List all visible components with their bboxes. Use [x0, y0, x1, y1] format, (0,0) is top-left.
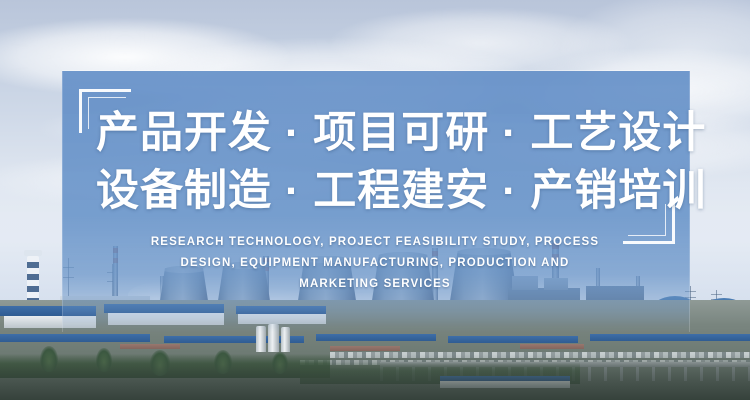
subtitle-line-2: DESIGN, EQUIPMENT MANUFACTURING, PRODUCT… — [110, 253, 640, 274]
subtitle-line-3: MARKETING SERVICES — [110, 274, 640, 295]
red-roof-building — [330, 346, 400, 351]
blue-roof-building — [316, 334, 436, 341]
foreground-shadow — [0, 354, 750, 400]
red-roof-building — [120, 344, 180, 349]
subtitle-block: RESEARCH TECHNOLOGY, PROJECT FEASIBILITY… — [110, 232, 640, 295]
subtitle-line-1: RESEARCH TECHNOLOGY, PROJECT FEASIBILITY… — [110, 232, 640, 253]
headline-block: 产品开发 · 项目可研 · 工艺设计 设备制造 · 工程建安 · 产销培训 — [96, 104, 666, 220]
blue-roof-building — [448, 336, 578, 343]
headline-line-2: 设备制造 · 工程建安 · 产销培训 — [96, 162, 666, 220]
headline-line-1: 产品开发 · 项目可研 · 工艺设计 — [96, 104, 666, 162]
blue-roof-building — [0, 334, 150, 342]
red-roof-building — [520, 344, 584, 349]
blue-roof-building — [590, 334, 750, 341]
industrial-services-hero-banner: 产品开发 · 项目可研 · 工艺设计 设备制造 · 工程建安 · 产销培训 RE… — [0, 0, 750, 400]
